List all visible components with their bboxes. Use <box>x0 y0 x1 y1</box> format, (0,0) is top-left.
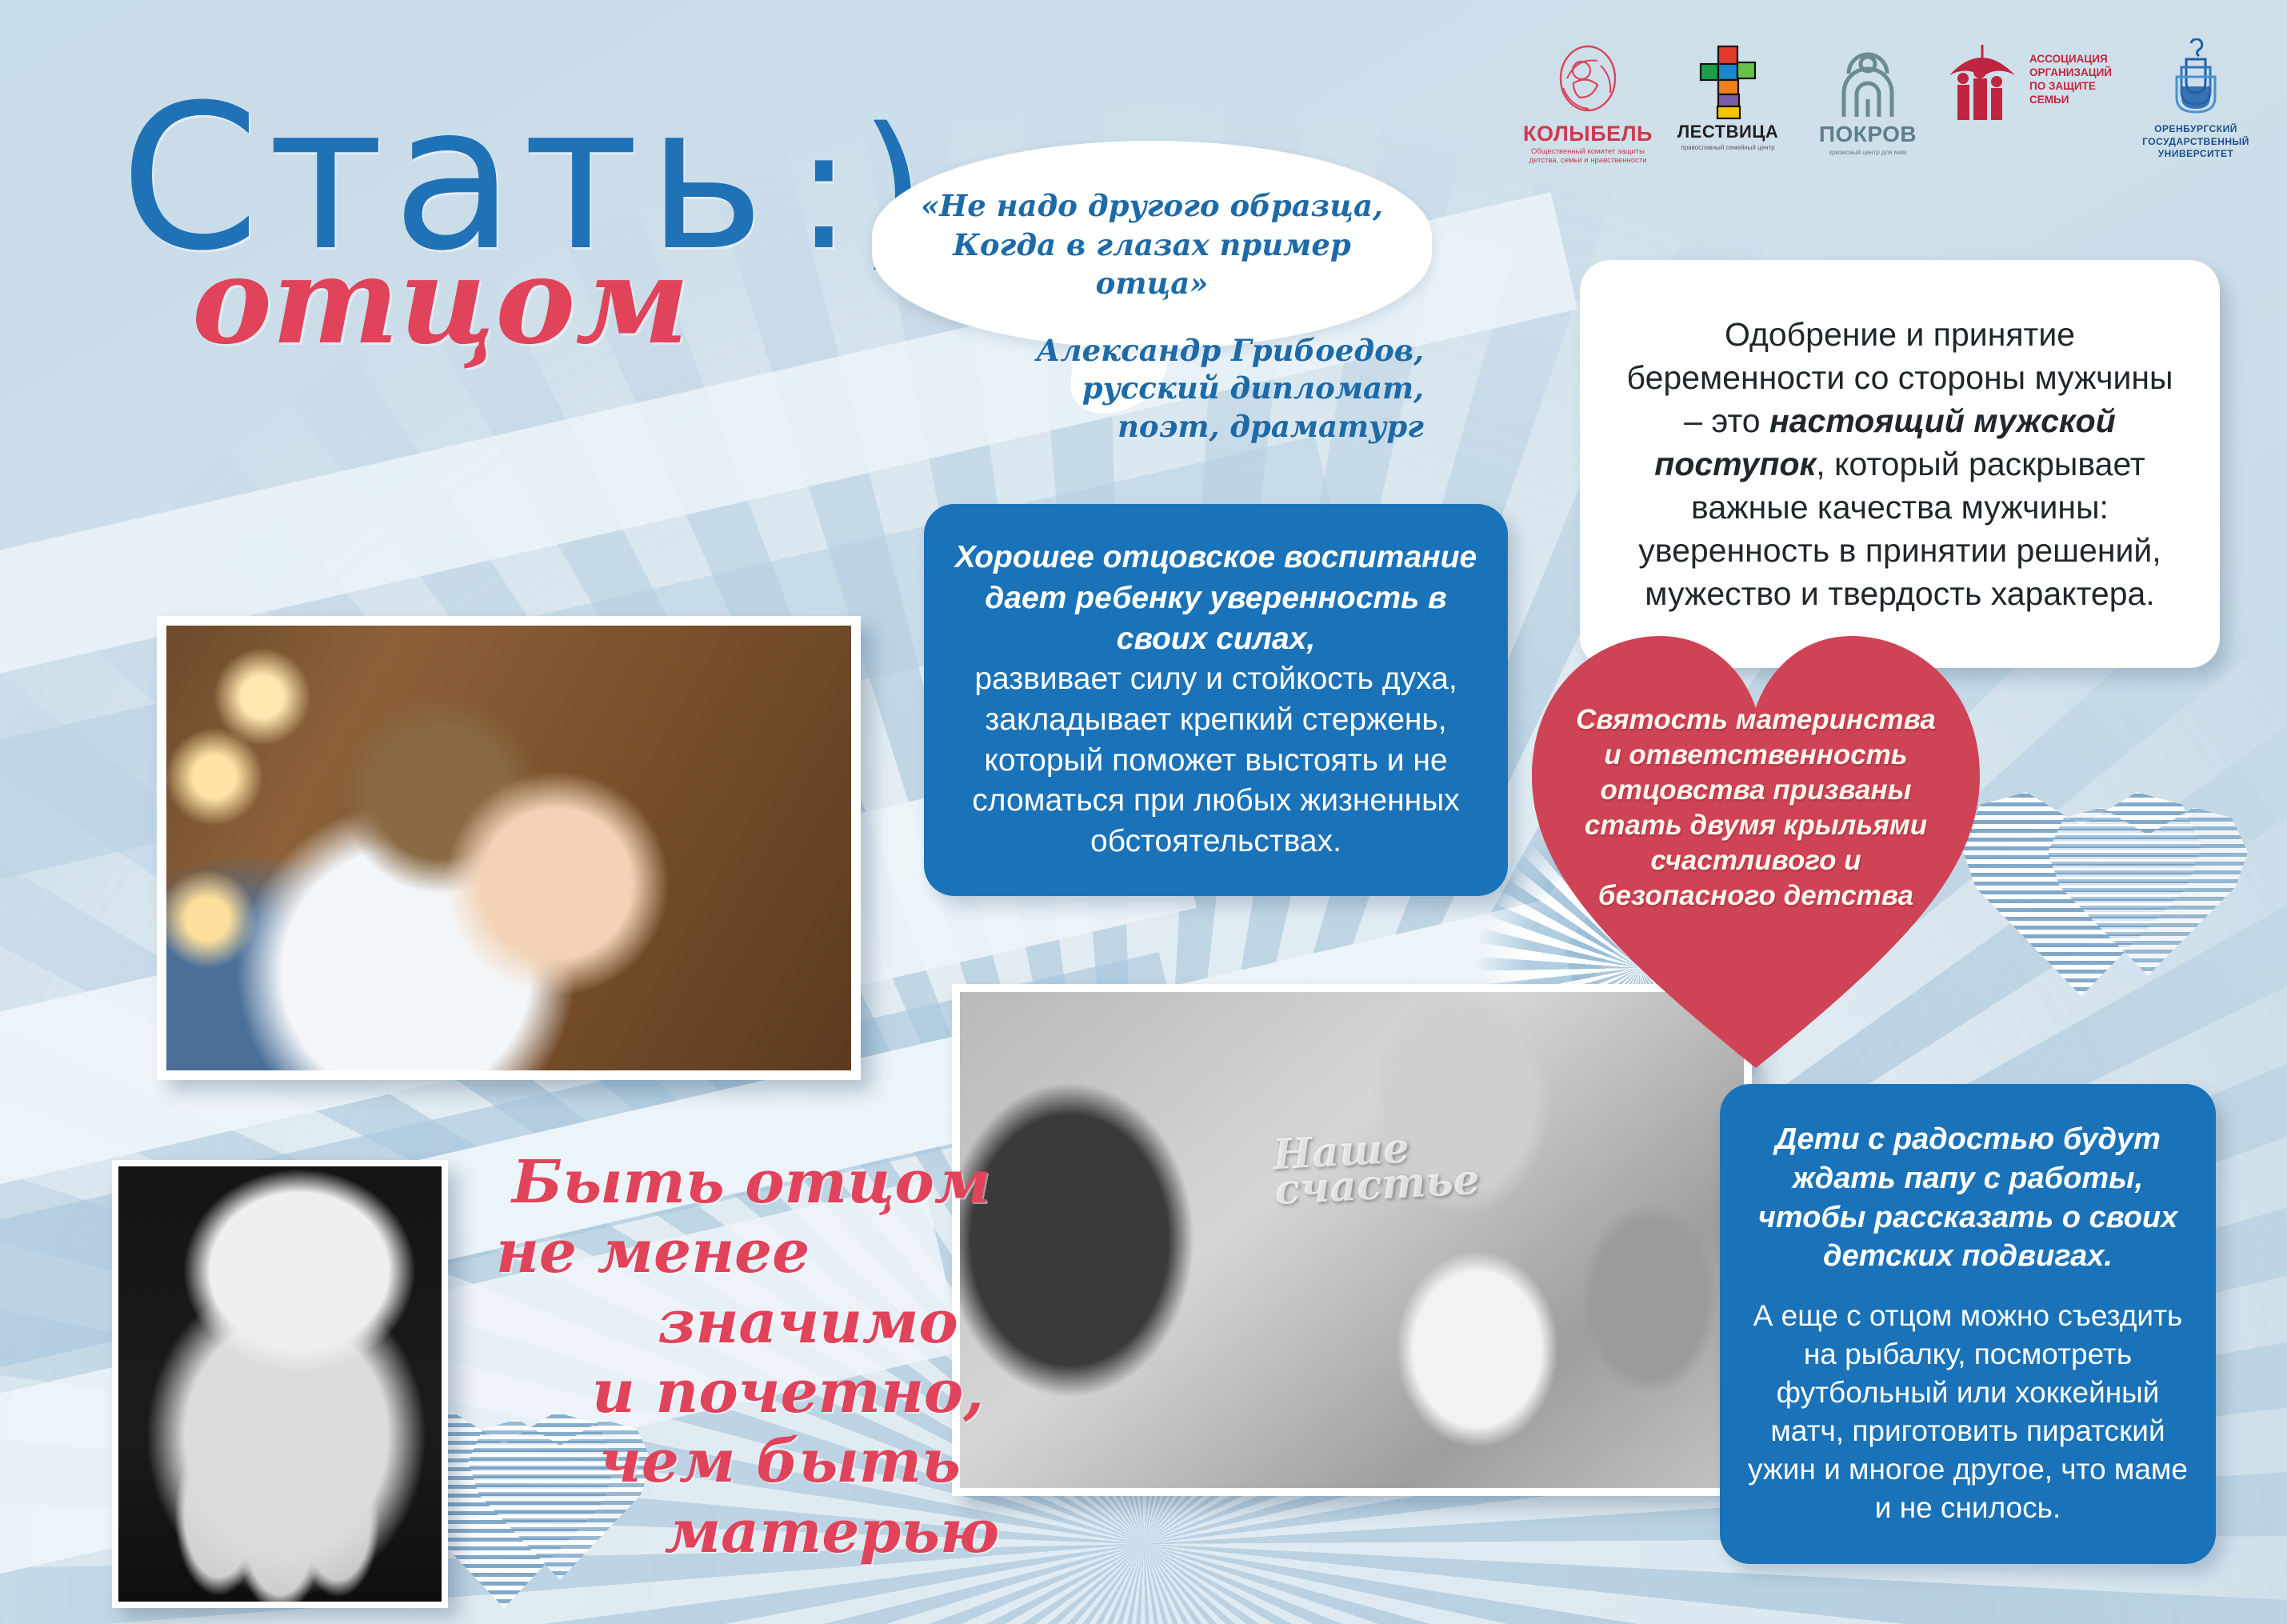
wavy-heart-decoration-right-2 <box>2048 804 2248 976</box>
slogan-line-2: не менее <box>496 1218 1040 1287</box>
card-children-body: А еще с отцом можно съездить на рыбалку,… <box>1747 1297 2189 1528</box>
card-upbringing-lead: Хорошее отцовское воспитание дает ребенк… <box>951 538 1481 659</box>
heart-sanctity-text: Святость материнства и ответственность о… <box>1532 702 1980 914</box>
card-upbringing-text: Хорошее отцовское воспитание дает ребенк… <box>951 538 1481 862</box>
card-upbringing: Хорошее отцовское воспитание дает ребенк… <box>924 504 1508 896</box>
logo-lestvica-name: ЛЕСТВИЦА <box>1677 123 1779 141</box>
photo-father-kissing-baby <box>157 616 861 1080</box>
quote-line-2: Когда в глазах пример отца» <box>953 227 1351 302</box>
heart-sanctity: Святость материнства и ответственность о… <box>1532 632 1980 1072</box>
slogan-line-5: чем быть <box>520 1427 1040 1497</box>
poster-canvas: КОЛЫБЕЛЬ Общественный комитет защиты дет… <box>0 0 2287 1624</box>
card-approval-text: Одобрение и принятие беременности со сто… <box>1613 313 2186 616</box>
page-title: Стать:) отцом <box>120 88 934 358</box>
logo-kolybel-subtitle: Общественный комитет защиты детства, сем… <box>1524 148 1652 166</box>
card-children-lead: Дети с радостью будут ждать папу с работ… <box>1747 1120 2189 1276</box>
logo-pokrov-name: ПОКРОВ <box>1819 123 1917 146</box>
logo-ogu-name: ОРЕНБУРГСКИЙ ГОСУДАРСТВЕННЫЙ УНИВЕРСИТЕТ <box>2128 123 2264 161</box>
mother-child-arch-icon <box>1831 37 1905 123</box>
slogan-line-3: значимо <box>576 1288 1040 1358</box>
quote-line-1: «Не надо другого образца, <box>921 188 1383 223</box>
logo-association-name: АССОЦИАЦИЯ ОРГАНИЗАЦИЙ ПО ЗАЩИТЕ СЕМЬИ <box>2029 53 2124 107</box>
slogan-line-1: Быть отцом <box>512 1148 1040 1218</box>
photo-family-sign: Наше счастье <box>1272 1124 1526 1208</box>
logo-lestvica[interactable]: ЛЕСТВИЦА православный семейный центр <box>1660 37 1796 151</box>
logo-pokrov[interactable]: ПОКРОВ кризисный центр для мам <box>1800 37 1936 156</box>
ogu-emblem-icon <box>2167 37 2225 123</box>
slogan-script: Быть отцом не менее значимо и почетно, ч… <box>512 1148 1040 1567</box>
photo-hands-image <box>118 1166 442 1602</box>
photo-hands <box>112 1160 448 1608</box>
logo-ogu[interactable]: ОРЕНБУРГСКИЙ ГОСУДАРСТВЕННЫЙ УНИВЕРСИТЕТ <box>2128 37 2264 161</box>
quote-text: «Не надо другого образца, Когда в глазах… <box>872 141 1432 349</box>
photo-father-kissing-baby-image <box>166 626 851 1070</box>
logo-association[interactable]: АССОЦИАЦИЯ ОРГАНИЗАЦИЙ ПО ЗАЩИТЕ СЕМЬИ <box>1940 37 2124 123</box>
quote-speech-bubble: «Не надо другого образца, Когда в глазах… <box>872 141 1432 349</box>
umbrella-family-icon <box>1940 37 2023 123</box>
slogan-line-4: и почетно, <box>536 1358 1040 1427</box>
cradle-mother-child-icon <box>1549 37 1626 123</box>
quote-attribution: Александр Грибоедов, русский дипломат, п… <box>1024 332 1424 446</box>
partner-logos-strip: КОЛЫБЕЛЬ Общественный комитет защиты дет… <box>1520 37 2264 205</box>
colored-cross-icon <box>1689 37 1766 123</box>
wavy-heart-decoration-right <box>1961 788 2201 996</box>
logo-kolybel[interactable]: КОЛЫБЕЛЬ Общественный комитет защиты дет… <box>1520 37 1656 166</box>
logo-kolybel-name: КОЛЫБЕЛЬ <box>1523 123 1653 145</box>
logo-pokrov-subtitle: кризисный центр для мам <box>1829 149 1906 156</box>
card-upbringing-body: развивает силу и стойкость духа, заклады… <box>972 662 1459 858</box>
photo-family-sign-line2: счастье <box>1273 1155 1481 1214</box>
photo-hands-render <box>118 1166 442 1602</box>
logo-lestvica-subtitle: православный семейный центр <box>1681 144 1774 151</box>
slogan-line-6: матерью <box>624 1498 1040 1567</box>
photo-father-render <box>166 626 851 1070</box>
card-approval: Одобрение и принятие беременности со сто… <box>1580 260 2220 668</box>
card-children: Дети с радостью будут ждать папу с работ… <box>1720 1084 2216 1564</box>
